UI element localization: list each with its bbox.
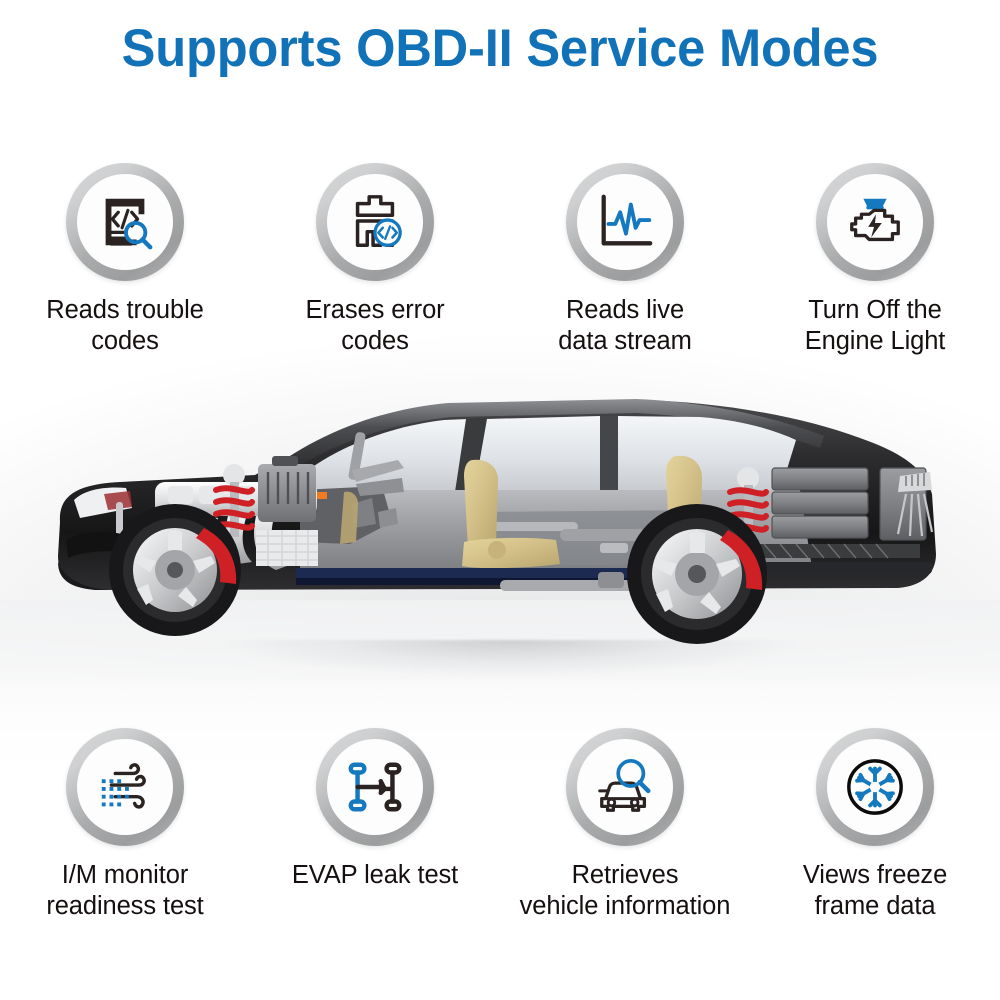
feature-im-monitor-readiness[interactable]: I/M monitor readiness test (0, 728, 250, 922)
feature-erases-error-codes[interactable]: Erases error codes (250, 163, 500, 357)
feature-icon-circle[interactable] (816, 728, 934, 846)
feature-views-freeze-frame-data[interactable]: Views freeze frame data (750, 728, 1000, 922)
feature-label: Retrieves vehicle information (500, 860, 750, 922)
feature-evap-leak-test[interactable]: EVAP leak test (250, 728, 500, 922)
wind-dots-icon (94, 756, 156, 818)
feature-row-top: Reads trouble codes Erases error codes R… (0, 163, 1000, 357)
feature-icon-circle[interactable] (566, 728, 684, 846)
snowflake-ring-icon (844, 756, 906, 818)
page-title: Supports OBD-II Service Modes (23, 18, 978, 79)
feature-reads-live-data-stream[interactable]: Reads live data stream (500, 163, 750, 357)
waveform-graph-icon (594, 191, 656, 253)
brush-code-icon (344, 191, 406, 253)
check-engine-light-icon (844, 191, 906, 253)
feature-row-bottom: I/M monitor readiness test (0, 728, 1000, 922)
feature-label: Reads live data stream (500, 295, 750, 357)
feature-icon-circle[interactable] (816, 163, 934, 281)
feature-label: Views freeze frame data (750, 860, 1000, 922)
feature-icon-circle[interactable] (566, 163, 684, 281)
feature-label: Reads trouble codes (0, 295, 250, 357)
chassis-axles-icon (344, 756, 406, 818)
car-magnifier-icon (594, 756, 656, 818)
feature-label: EVAP leak test (250, 860, 500, 891)
feature-icon-circle[interactable] (66, 163, 184, 281)
document-code-search-icon (94, 191, 156, 253)
feature-retrieves-vehicle-information[interactable]: Retrieves vehicle information (500, 728, 750, 922)
cutaway-sedan-illustration (0, 372, 1000, 672)
feature-reads-trouble-codes[interactable]: Reads trouble codes (0, 163, 250, 357)
feature-label: Erases error codes (250, 295, 500, 357)
feature-icon-circle[interactable] (66, 728, 184, 846)
feature-turn-off-engine-light[interactable]: Turn Off the Engine Light (750, 163, 1000, 357)
feature-label: I/M monitor readiness test (0, 860, 250, 922)
feature-icon-circle[interactable] (316, 728, 434, 846)
feature-icon-circle[interactable] (316, 163, 434, 281)
feature-label: Turn Off the Engine Light (750, 295, 1000, 357)
